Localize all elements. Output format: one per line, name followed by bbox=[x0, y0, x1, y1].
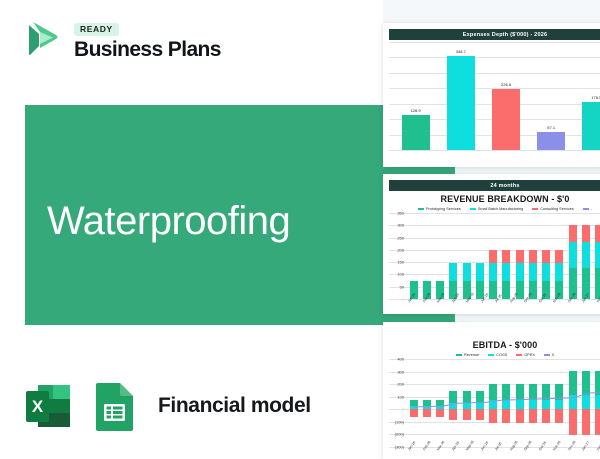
table-row bbox=[500, 213, 513, 299]
negative-bar-segment bbox=[529, 409, 537, 423]
bar-data-label: 128.9 bbox=[411, 108, 421, 113]
bar-segment bbox=[555, 263, 563, 280]
bar-segment bbox=[489, 400, 497, 409]
revenue-x-axis: Jan-26Feb-26Mar-26Apr-26May-26Jun-26Jul-… bbox=[407, 299, 600, 305]
ebitda-bars bbox=[407, 359, 600, 447]
table-row: 348.7 bbox=[438, 42, 483, 150]
ready-badge: READY bbox=[74, 23, 119, 36]
revenue-card-inner: 24 months REVENUE BREAKDOWN - $'0 Protot… bbox=[389, 180, 600, 314]
table-row bbox=[553, 213, 566, 299]
positive-stack bbox=[436, 400, 444, 409]
bar-segment bbox=[555, 250, 563, 264]
table-row bbox=[487, 359, 500, 447]
bar-segment bbox=[489, 384, 497, 400]
legend-entry: - bbox=[583, 207, 592, 211]
bar-segment bbox=[516, 384, 524, 400]
ebitda-plot: 400300200100-(100)(200)(300) bbox=[389, 359, 600, 447]
bar-segment bbox=[449, 263, 457, 280]
table-row bbox=[447, 359, 460, 447]
table-row bbox=[513, 213, 526, 299]
ebitda-legend: RevenueCOGSOPEX0 bbox=[389, 353, 600, 357]
table-row bbox=[566, 359, 579, 447]
table-row bbox=[526, 213, 539, 299]
legend-label: Small Batch Manufacturing bbox=[478, 207, 523, 211]
legend-entry: 0 bbox=[544, 353, 554, 357]
revenue-plot: 35030025020015010050- bbox=[389, 213, 600, 299]
negative-bar-segment bbox=[410, 409, 418, 417]
negative-bar-segment bbox=[595, 409, 600, 435]
negative-bar-segment bbox=[436, 409, 444, 417]
expenses-plot: 128.9348.7226.867.1176.5 bbox=[389, 42, 600, 150]
table-row bbox=[566, 213, 579, 299]
positive-stack bbox=[542, 384, 550, 410]
bar-segment bbox=[569, 242, 577, 268]
legend-swatch bbox=[583, 208, 589, 210]
legend-swatch bbox=[470, 208, 476, 210]
slide-canvas: READY Business Plans Waterproofing X bbox=[0, 0, 600, 459]
bar-segment bbox=[582, 225, 590, 242]
table-row bbox=[593, 213, 600, 299]
bar-segment bbox=[529, 384, 537, 400]
bar-segment bbox=[555, 400, 563, 409]
brand-title: Business Plans bbox=[74, 39, 221, 61]
table-row bbox=[407, 359, 420, 447]
legend-swatch bbox=[418, 208, 424, 210]
bar-segment bbox=[582, 395, 590, 409]
positive-stack bbox=[555, 384, 563, 410]
bar-segment bbox=[569, 225, 577, 242]
bar-segment bbox=[542, 250, 550, 264]
table-row bbox=[540, 359, 553, 447]
bar-segment bbox=[449, 391, 457, 403]
bar-segment: 226.8 bbox=[492, 89, 520, 150]
bar-segment bbox=[502, 250, 510, 264]
bar-segment bbox=[542, 263, 550, 280]
expenses-bars: 128.9348.7226.867.1176.5 bbox=[393, 42, 600, 150]
hero-title: Waterproofing bbox=[47, 201, 290, 241]
revenue-bars bbox=[407, 213, 600, 299]
positive-stack bbox=[502, 384, 510, 410]
table-row: 176.5 bbox=[574, 42, 600, 150]
revenue-period-header: 24 months bbox=[389, 180, 600, 191]
negative-bar-segment bbox=[569, 409, 577, 435]
bar-segment bbox=[476, 391, 484, 403]
table-row bbox=[593, 359, 600, 447]
microsoft-excel-icon: X bbox=[20, 378, 76, 434]
table-row: 226.8 bbox=[483, 42, 528, 150]
revenue-y-axis: 35030025020015010050- bbox=[389, 213, 405, 299]
bar-data-label: 348.7 bbox=[456, 49, 466, 54]
legend-label: COGS bbox=[496, 353, 507, 357]
brand-lockup: READY Business Plans bbox=[18, 16, 221, 62]
negative-bar-segment bbox=[463, 409, 471, 419]
legend-entry: Prototyping Services bbox=[418, 207, 461, 211]
bar-segment bbox=[595, 225, 600, 242]
bar-segment bbox=[529, 250, 537, 264]
footer-row: X Financial model bbox=[20, 378, 311, 434]
table-row: 128.9 bbox=[393, 42, 438, 150]
positive-stack bbox=[476, 391, 484, 409]
brand-text: READY Business Plans bbox=[74, 17, 221, 61]
bar-segment bbox=[595, 371, 600, 395]
table-row bbox=[579, 359, 592, 447]
negative-bar-segment bbox=[489, 409, 497, 423]
table-row bbox=[434, 213, 447, 299]
positive-stack bbox=[516, 384, 524, 410]
bar-segment bbox=[542, 400, 550, 409]
bar-data-label: 67.1 bbox=[547, 125, 555, 130]
positive-stack bbox=[569, 371, 577, 409]
chart-card-revenue[interactable]: 24 months REVENUE BREAKDOWN - $'0 Protot… bbox=[383, 174, 600, 314]
revenue-legend: Prototyping ServicesSmall Batch Manufact… bbox=[389, 207, 600, 211]
legend-swatch bbox=[532, 208, 538, 210]
ebitda-y-axis: 400300200100-(100)(200)(300) bbox=[389, 359, 405, 447]
legend-swatch bbox=[456, 354, 462, 356]
negative-bar-segment bbox=[555, 409, 563, 423]
play-arrow-logo-icon bbox=[18, 16, 64, 62]
table-row bbox=[460, 213, 473, 299]
negative-bar-segment bbox=[542, 409, 550, 423]
table-row: 67.1 bbox=[529, 42, 574, 150]
google-sheets-icon bbox=[88, 378, 140, 434]
table-row bbox=[420, 213, 433, 299]
positive-stack bbox=[423, 400, 431, 409]
legend-entry: Revenue bbox=[456, 353, 479, 357]
bar-segment bbox=[489, 263, 497, 280]
bar-segment bbox=[582, 242, 590, 268]
bar-segment bbox=[529, 400, 537, 409]
bar-data-label: 226.8 bbox=[501, 82, 511, 87]
bar-segment bbox=[516, 250, 524, 264]
positive-stack bbox=[489, 384, 497, 410]
ebitda-x-axis: Jan-26Feb-26Mar-26Apr-26May-26Jun-26Jul-… bbox=[407, 447, 600, 453]
positive-stack bbox=[595, 371, 600, 409]
positive-stack bbox=[410, 400, 418, 409]
table-row bbox=[487, 213, 500, 299]
expenses-chart-title: Expenses Depth ($'000) - 2026 bbox=[389, 29, 600, 40]
ebitda-chart-title: EBITDA - $'000 bbox=[389, 340, 600, 350]
legend-swatch bbox=[488, 354, 494, 356]
negative-bar-segment bbox=[582, 409, 590, 435]
bar-segment bbox=[529, 263, 537, 280]
legend-entry: Consulting Services bbox=[532, 207, 574, 211]
legend-label: Prototyping Services bbox=[426, 207, 461, 211]
legend-swatch bbox=[544, 354, 550, 356]
table-row bbox=[500, 359, 513, 447]
bar-segment: 128.9 bbox=[402, 115, 430, 150]
bar-segment bbox=[555, 384, 563, 400]
bar-segment bbox=[502, 263, 510, 280]
table-row bbox=[434, 359, 447, 447]
bar-segment bbox=[582, 371, 590, 395]
legend-entry: OPEX bbox=[516, 353, 535, 357]
table-row bbox=[553, 359, 566, 447]
legend-swatch bbox=[516, 354, 522, 356]
table-row bbox=[540, 213, 553, 299]
table-row bbox=[473, 213, 486, 299]
bar-segment bbox=[476, 263, 484, 280]
table-row bbox=[447, 213, 460, 299]
table-row bbox=[407, 213, 420, 299]
chart-card-expenses[interactable]: Expenses Depth ($'000) - 2026 128.9348.7… bbox=[383, 23, 600, 167]
footer-label: Financial model bbox=[158, 394, 311, 418]
positive-stack bbox=[529, 384, 537, 410]
legend-label: Consulting Services bbox=[540, 207, 574, 211]
legend-label: Revenue bbox=[464, 353, 479, 357]
bar-segment bbox=[595, 395, 600, 409]
legend-entry: Small Batch Manufacturing bbox=[470, 207, 523, 211]
revenue-chart-title: REVENUE BREAKDOWN - $'0 bbox=[389, 194, 600, 204]
positive-stack bbox=[582, 371, 590, 409]
chart-card-ebitda[interactable]: EBITDA - $'000 RevenueCOGSOPEX0 40030020… bbox=[383, 322, 600, 459]
legend-label: 0 bbox=[552, 353, 554, 357]
legend-entry: COGS bbox=[488, 353, 507, 357]
ebitda-card-inner: EBITDA - $'000 RevenueCOGSOPEX0 40030020… bbox=[389, 328, 600, 459]
table-row bbox=[460, 359, 473, 447]
bar-segment bbox=[463, 263, 471, 280]
negative-bar-segment bbox=[449, 409, 457, 419]
bar-segment: 67.1 bbox=[537, 132, 565, 150]
bar-segment bbox=[516, 400, 524, 409]
bar-segment bbox=[489, 250, 497, 264]
bar-segment: 176.5 bbox=[582, 102, 600, 150]
negative-bar-segment bbox=[502, 409, 510, 423]
bar-segment bbox=[502, 384, 510, 400]
table-row bbox=[579, 213, 592, 299]
bar-segment bbox=[595, 242, 600, 268]
negative-bar-segment bbox=[423, 409, 431, 417]
legend-label: OPEX bbox=[524, 353, 535, 357]
table-row bbox=[526, 359, 539, 447]
bar-segment: 348.7 bbox=[447, 56, 475, 150]
bar-segment bbox=[502, 400, 510, 409]
svg-text:X: X bbox=[32, 397, 44, 416]
bar-segment bbox=[569, 371, 577, 395]
bar-segment bbox=[569, 395, 577, 409]
bar-segment bbox=[516, 263, 524, 280]
table-row bbox=[420, 359, 433, 447]
table-row bbox=[473, 359, 486, 447]
table-row bbox=[513, 359, 526, 447]
bar-segment bbox=[542, 384, 550, 400]
expenses-card-inner: Expenses Depth ($'000) - 2026 128.9348.7… bbox=[389, 29, 600, 167]
negative-bar-segment bbox=[516, 409, 524, 423]
negative-bar-segment bbox=[476, 409, 484, 419]
bar-data-label: 176.5 bbox=[591, 95, 600, 100]
bar-segment bbox=[463, 391, 471, 403]
legend-label: - bbox=[591, 207, 592, 211]
positive-stack bbox=[449, 391, 457, 409]
positive-stack bbox=[463, 391, 471, 409]
